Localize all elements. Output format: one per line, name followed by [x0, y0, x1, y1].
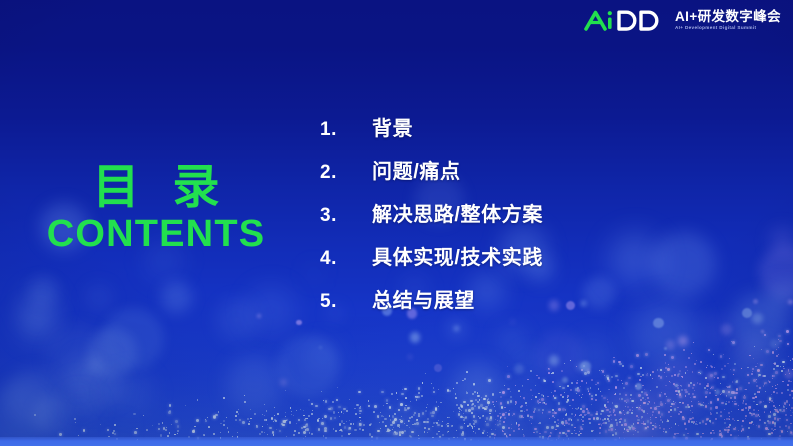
page-title-block: 目 录 CONTENTS — [0, 163, 312, 256]
agenda-slide: AI+研发数字峰会 AI+ Development Digital Summit… — [0, 0, 793, 446]
page-title-cn: 目 录 — [0, 163, 312, 211]
agenda-item[interactable]: 5.总结与展望 — [320, 284, 740, 327]
logo-name-en: AI+ Development Digital Summit — [675, 26, 781, 31]
agenda-item-number: 1. — [320, 119, 372, 141]
agenda-item-number: 4. — [320, 248, 372, 270]
agenda-item-label: 总结与展望 — [372, 284, 475, 313]
bottom-accent-band — [0, 437, 793, 446]
agenda-item-number: 5. — [320, 291, 372, 313]
agenda-item[interactable]: 2.问题/痛点 — [320, 155, 740, 198]
agenda-item-number: 3. — [320, 205, 372, 227]
agenda-item-label: 背景 — [372, 112, 413, 141]
agenda-item-number: 2. — [320, 162, 372, 184]
agenda-item[interactable]: 4.具体实现/技术实践 — [320, 241, 740, 284]
agenda-item-label: 问题/痛点 — [372, 155, 461, 184]
agenda-item[interactable]: 3.解决思路/整体方案 — [320, 198, 740, 241]
aidd-logomark-icon — [584, 8, 668, 32]
page-title-en: CONTENTS — [0, 214, 312, 256]
logo-text-block: AI+研发数字峰会 AI+ Development Digital Summit — [675, 10, 781, 31]
logo-name-cn: AI+研发数字峰会 — [675, 10, 781, 24]
agenda-item-label: 解决思路/整体方案 — [372, 198, 543, 227]
agenda-list: 1.背景2.问题/痛点3.解决思路/整体方案4.具体实现/技术实践5.总结与展望 — [320, 112, 740, 327]
agenda-item-label: 具体实现/技术实践 — [372, 241, 543, 270]
aidd-logo: AI+研发数字峰会 AI+ Development Digital Summit — [584, 7, 781, 33]
agenda-item[interactable]: 1.背景 — [320, 112, 740, 155]
